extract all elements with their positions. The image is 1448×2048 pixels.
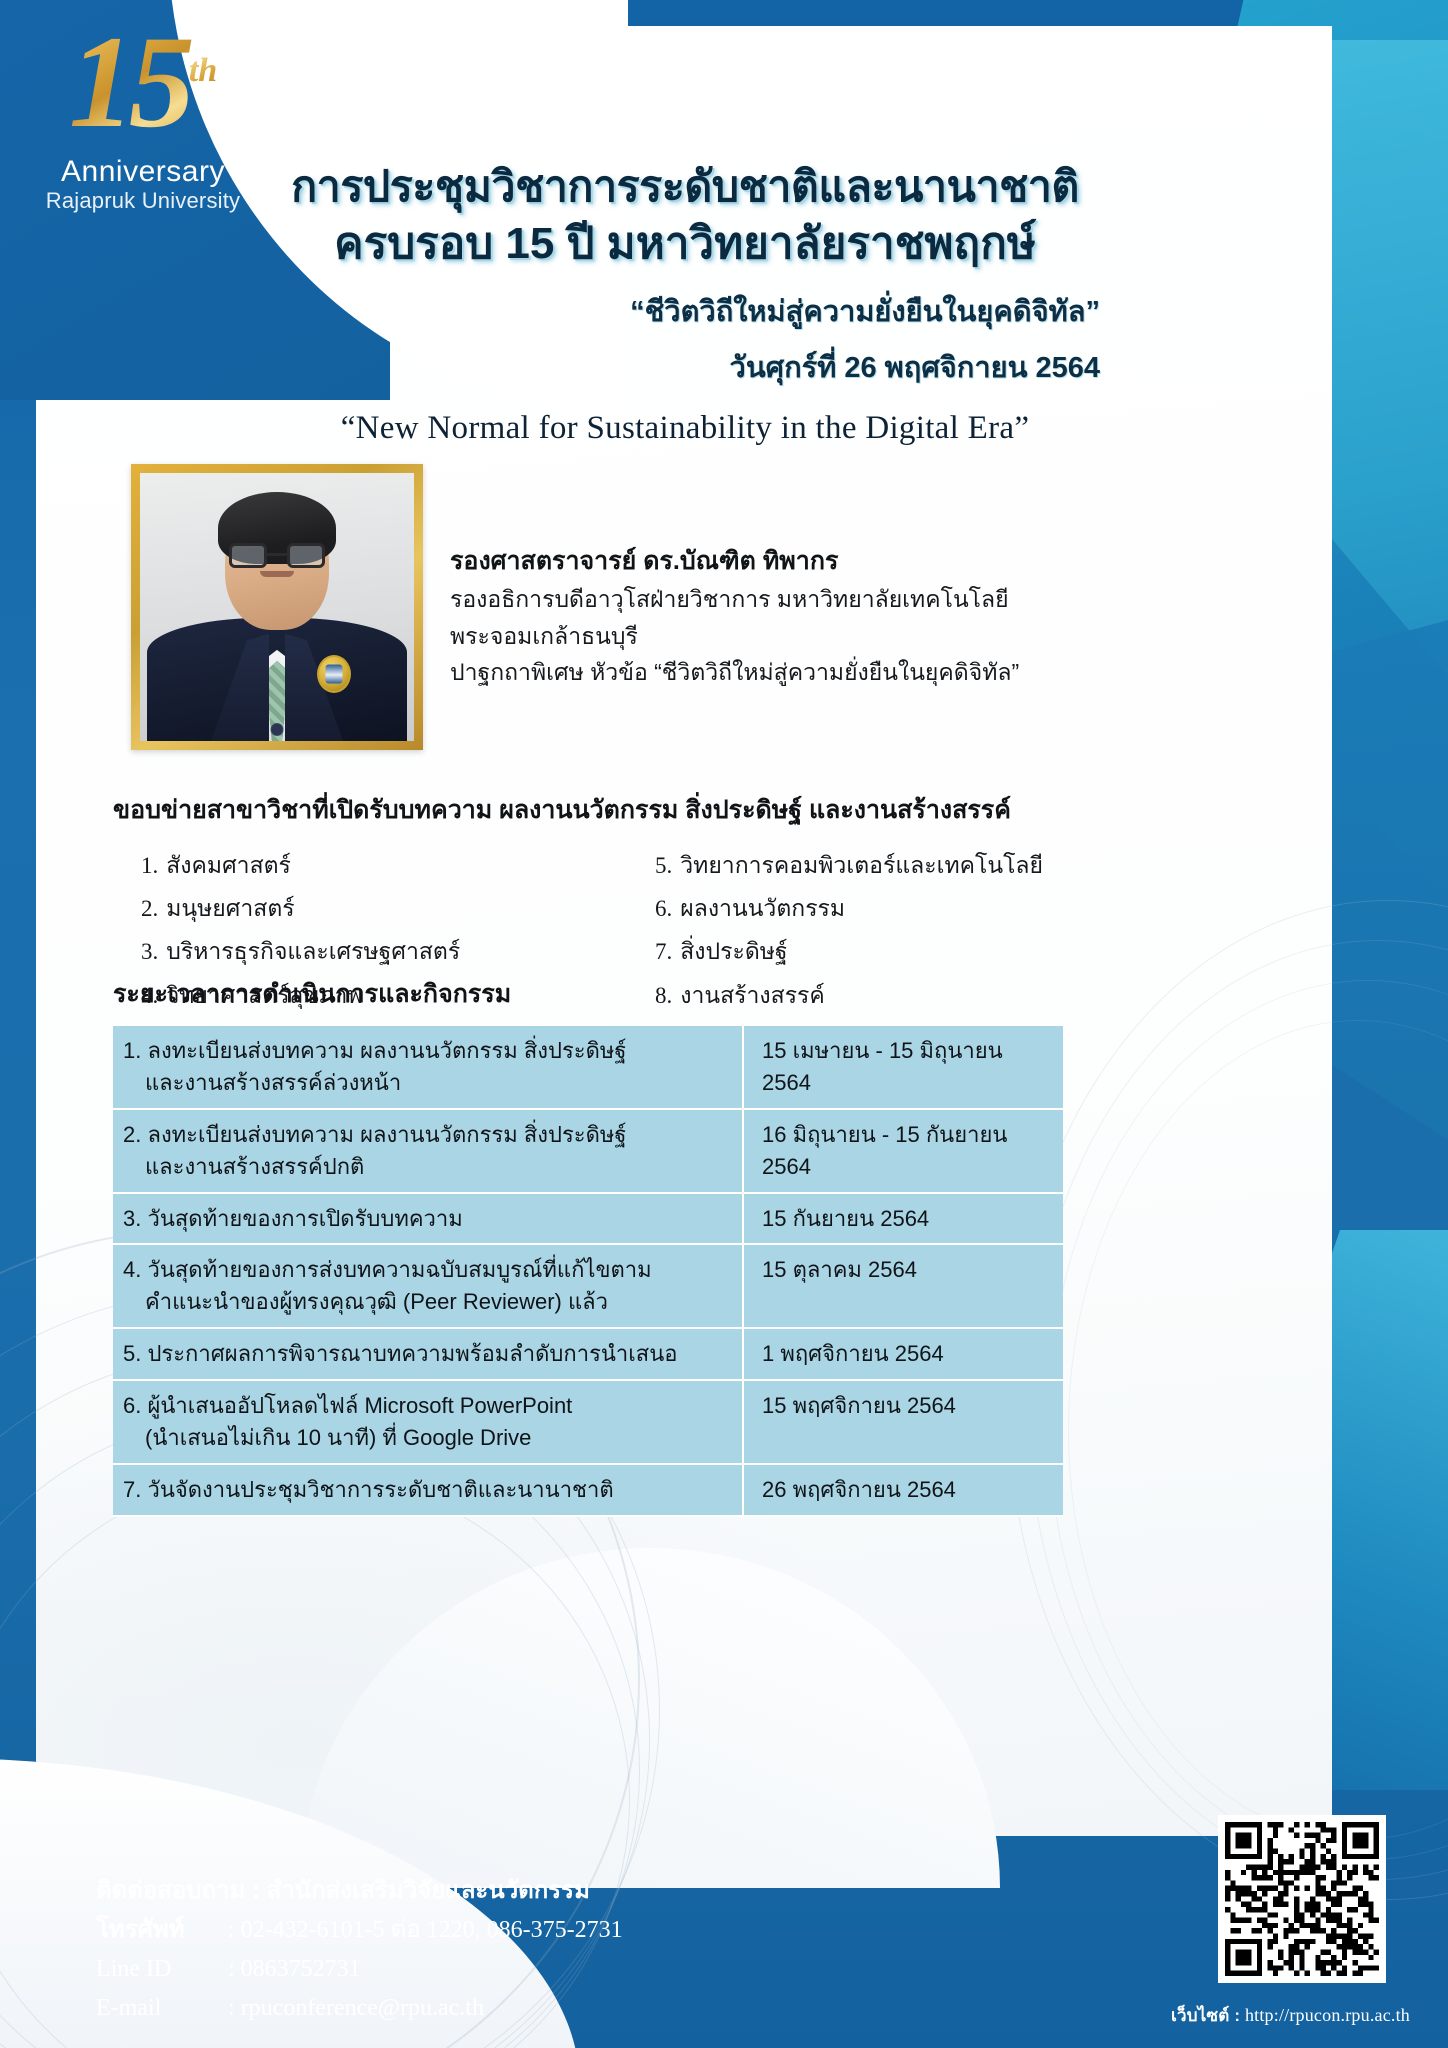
poster-root: 15th Anniversary Rajapruk University การ… — [0, 0, 1448, 2048]
speaker-photo-frame — [131, 464, 423, 750]
scope-item: 3.บริหารธุรกิจและเศรษฐศาสตร์ — [141, 930, 593, 973]
timeline-date-cell: 15 เมษายน - 15 มิถุนายน 2564 — [743, 1025, 1063, 1109]
scope-item: 1.สังคมศาสตร์ — [141, 844, 593, 887]
scope-item-label: วิทยาการคอมพิวเตอร์และเทคโนโลยี — [680, 844, 1043, 887]
timeline-activity-line2: (นำเสนอไม่เกิน 10 นาที) ที่ Google Drive — [123, 1422, 730, 1454]
scope-item-number: 7. — [655, 930, 672, 973]
timeline-date-cell: 15 กันยายน 2564 — [743, 1193, 1063, 1245]
timeline-table: 1. ลงทะเบียนส่งบทความ ผลงานนวัตกรรม สิ่ง… — [113, 1024, 1063, 1517]
table-row: 7. วันจัดงานประชุมวิชาการระดับชาติและนาน… — [113, 1464, 1063, 1516]
portrait-glasses-right — [287, 543, 325, 568]
website-url[interactable]: http://rpucon.rpu.ac.th — [1245, 2005, 1410, 2025]
table-row: 3. วันสุดท้ายของการเปิดรับบทความ15 กันยา… — [113, 1193, 1063, 1245]
qr-code-image — [1225, 1822, 1379, 1976]
contact-intro: ติดต่อสอบถาม : สำนักส่งเสริมวิจัยและนวัต… — [96, 1872, 623, 1911]
contact-phone-label: โทรศัพท์ — [96, 1911, 228, 1950]
timeline-activity-line2: และงานสร้างสรรค์ปกติ — [123, 1151, 730, 1183]
page-title-line2: ครบรอบ 15 ปี มหาวิทยาลัยราชพฤกษ์ — [270, 216, 1100, 271]
timeline-activity-cell: 3. วันสุดท้ายของการเปิดรับบทความ — [113, 1193, 743, 1245]
scope-item-label: สังคมศาสตร์ — [166, 844, 291, 887]
timeline-activity-cell: 2. ลงทะเบียนส่งบทความ ผลงานนวัตกรรม สิ่ง… — [113, 1109, 743, 1193]
table-row: 5. ประกาศผลการพิจารณาบทความพร้อมลำดับการ… — [113, 1328, 1063, 1380]
qr-code[interactable] — [1218, 1815, 1386, 1983]
contact-phone-row: โทรศัพท์ : 02-432-6101-5 ต่อ 1220, 086-3… — [96, 1911, 623, 1950]
table-row: 4. วันสุดท้ายของการส่งบทความฉบับสมบูรณ์ท… — [113, 1244, 1063, 1328]
timeline-section: ระยะเวลาการดำเนินการและกิจกรรม 1. ลงทะเบ… — [113, 974, 1063, 1517]
table-row: 1. ลงทะเบียนส่งบทความ ผลงานนวัตกรรม สิ่ง… — [113, 1025, 1063, 1109]
timeline-date-cell: 1 พฤศจิกายน 2564 — [743, 1328, 1063, 1380]
timeline-date-cell: 15 พฤศจิกายน 2564 — [743, 1380, 1063, 1464]
contact-phone-value: : 02-432-6101-5 ต่อ 1220, 086-375-2731 — [228, 1911, 623, 1950]
table-row: 6. ผู้นำเสนออัปโหลดไฟล์ Microsoft PowerP… — [113, 1380, 1063, 1464]
theme-thai: “ชีวิตวิถีใหม่สู่ความยั่งยืนในยุคดิจิทัล… — [270, 288, 1100, 334]
speaker-name: รองศาสตราจารย์ ดร.บัณฑิต ทิพากร — [450, 542, 1090, 581]
logo-university-text: Rajapruk University — [18, 188, 268, 214]
timeline-activity-cell: 4. วันสุดท้ายของการส่งบทความฉบับสมบูรณ์ท… — [113, 1244, 743, 1328]
speaker-talk: ปาฐกถาพิเศษ หัวข้อ “ชีวิตวิถีใหม่สู่ความ… — [450, 654, 1090, 691]
timeline-heading: ระยะเวลาการดำเนินการและกิจกรรม — [113, 974, 1063, 1014]
scope-item: 6.ผลงานนวัตกรรม — [655, 887, 1073, 930]
timeline-date-cell: 16 มิถุนายน - 15 กันยายน 2564 — [743, 1109, 1063, 1193]
scope-item-number: 1. — [141, 844, 158, 887]
timeline-activity-cell: 7. วันจัดงานประชุมวิชาการระดับชาติและนาน… — [113, 1464, 743, 1516]
logo-ordinal: th — [189, 52, 217, 89]
logo-anniversary-text: Anniversary — [18, 156, 268, 188]
scope-item-number: 6. — [655, 887, 672, 930]
scope-heading: ขอบข่ายสาขาวิชาที่เปิดรับบทความ ผลงานนวั… — [113, 790, 1073, 830]
scope-item-label: บริหารธุรกิจและเศรษฐศาสตร์ — [166, 930, 460, 973]
event-date-thai: วันศุกร์ที่ 26 พฤศจิกายน 2564 — [270, 344, 1100, 390]
scope-item: 2.มนุษยศาสตร์ — [141, 887, 593, 930]
logo-number: 15 — [69, 8, 189, 155]
timeline-activity-cell: 6. ผู้นำเสนออัปโหลดไฟล์ Microsoft PowerP… — [113, 1380, 743, 1464]
contact-block: ติดต่อสอบถาม : สำนักส่งเสริมวิจัยและนวัต… — [96, 1872, 623, 2028]
timeline-activity-cell: 1. ลงทะเบียนส่งบทความ ผลงานนวัตกรรม สิ่ง… — [113, 1025, 743, 1109]
contact-email-row: E-mail : rpuconference@rpu.ac.th — [96, 1989, 623, 2028]
scope-item: 5.วิทยาการคอมพิวเตอร์และเทคโนโลยี — [655, 844, 1073, 887]
timeline-activity-cell: 5. ประกาศผลการพิจารณาบทความพร้อมลำดับการ… — [113, 1328, 743, 1380]
timeline-date-cell: 15 ตุลาคม 2564 — [743, 1244, 1063, 1328]
website-line[interactable]: เว็บไซต์ : http://rpucon.rpu.ac.th — [1171, 2002, 1410, 2029]
contact-email-value[interactable]: : rpuconference@rpu.ac.th — [228, 1989, 484, 2028]
scope-item-label: มนุษยศาสตร์ — [166, 887, 294, 930]
contact-line-value: : 0863752731 — [228, 1950, 361, 1989]
timeline-date-cell: 26 พฤศจิกายน 2564 — [743, 1464, 1063, 1516]
scope-item-number: 3. — [141, 930, 158, 973]
speaker-position: รองอธิการบดีอาวุโสฝ่ายวิชาการ มหาวิทยาลั… — [450, 581, 1090, 655]
timeline-activity-line2: และงานสร้างสรรค์ล่วงหน้า — [123, 1067, 730, 1099]
speaker-portrait — [140, 473, 414, 741]
title-block: การประชุมวิชาการระดับชาติและนานาชาติ ครบ… — [270, 160, 1100, 447]
speaker-details: รองศาสตราจารย์ ดร.บัณฑิต ทิพากร รองอธิกา… — [450, 542, 1090, 691]
contact-line-row: Line ID : 0863752731 — [96, 1950, 623, 1989]
theme-english: “New Normal for Sustainability in the Di… — [270, 410, 1100, 447]
scope-item: 7.สิ่งประดิษฐ์ — [655, 930, 1073, 973]
timeline-activity-line2: คำแนะนำของผู้ทรงคุณวุฒิ (Peer Reviewer) … — [123, 1286, 730, 1318]
contact-email-label: E-mail — [96, 1989, 228, 2028]
scope-item-label: สิ่งประดิษฐ์ — [680, 930, 787, 973]
page-title-line1: การประชุมวิชาการระดับชาติและนานาชาติ — [270, 160, 1100, 214]
anniversary-logo: 15th Anniversary Rajapruk University — [18, 10, 268, 250]
website-label: เว็บไซต์ : — [1171, 2006, 1240, 2025]
portrait-mouth — [260, 571, 294, 577]
scope-item-label: ผลงานนวัตกรรม — [680, 887, 845, 930]
table-row: 2. ลงทะเบียนส่งบทความ ผลงานนวัตกรรม สิ่ง… — [113, 1109, 1063, 1193]
portrait-glasses-bridge — [267, 553, 287, 556]
portrait-glasses-left — [229, 543, 267, 568]
portrait-emblem-badge — [317, 655, 351, 693]
contact-line-label: Line ID — [96, 1950, 228, 1989]
scope-item-number: 5. — [655, 844, 672, 887]
logo-15-mark: 15th — [18, 10, 268, 148]
portrait-suit-button — [271, 723, 284, 736]
scope-item-number: 2. — [141, 887, 158, 930]
